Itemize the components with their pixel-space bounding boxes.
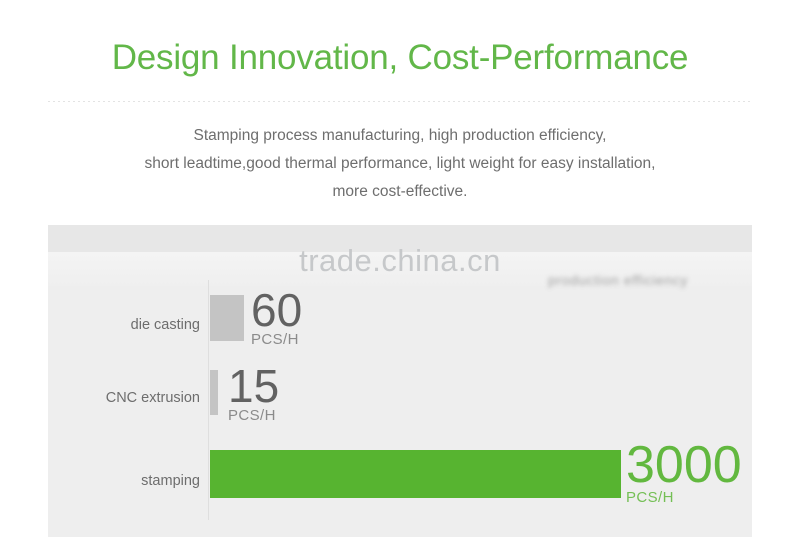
bar-die-casting (210, 295, 244, 341)
subtitle-line-3: more cost-effective. (0, 178, 800, 206)
page-title: Design Innovation, Cost-Performance (0, 36, 800, 80)
title-divider (48, 101, 752, 102)
subtitle-line-2: short leadtime,good thermal performance,… (0, 150, 800, 178)
subtitle-block: Stamping process manufacturing, high pro… (0, 122, 800, 206)
bar-value-cnc-extrusion: 15 PCS/H (228, 365, 279, 425)
bar-value-stamping: 3000 PCS/H (626, 441, 742, 507)
bar-cnc-extrusion (210, 370, 218, 415)
bar-value-number-cnc-extrusion: 15 (228, 365, 279, 407)
bar-label-cnc-extrusion: CNC extrusion (48, 390, 200, 406)
chart-title-blurred: production efficiency (548, 272, 744, 288)
bar-value-unit-die-casting: PCS/H (251, 331, 302, 349)
bar-value-number-die-casting: 60 (251, 289, 302, 331)
bar-value-die-casting: 60 PCS/H (251, 289, 302, 349)
bar-label-die-casting: die casting (48, 317, 200, 333)
bar-value-number-stamping: 3000 (626, 441, 742, 489)
table-row: die casting (48, 295, 752, 355)
bar-label-stamping: stamping (48, 473, 200, 489)
subtitle-line-1: Stamping process manufacturing, high pro… (0, 122, 800, 150)
bar-value-unit-cnc-extrusion: PCS/H (228, 407, 279, 425)
bar-stamping (210, 450, 621, 498)
table-row: CNC extrusion (48, 370, 752, 430)
